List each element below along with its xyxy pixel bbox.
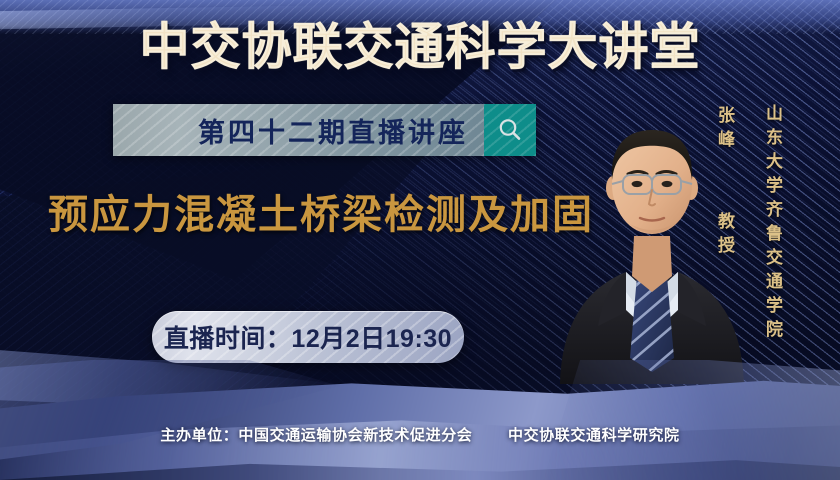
episode-label: 第四十二期直播讲座: [198, 111, 484, 150]
organizer-label: 主办单位：中国交通运输协会新技术促进分会: [160, 427, 472, 444]
page-title: 中交协联交通科学大讲堂: [0, 18, 840, 76]
lecture-topic: 预应力混凝土桥梁检测及加固: [48, 190, 594, 240]
ribbon-highlight-right: [540, 360, 840, 480]
footer-organizers: 主办单位：中国交通运输协会新技术促进分会 中交协联交通科学研究院: [0, 424, 840, 445]
promo-poster: 中交协联交通科学大讲堂 第四十二期直播讲座 预应力混凝土桥梁检测及加固 直播时间…: [0, 0, 840, 480]
episode-banner: 第四十二期直播讲座: [113, 104, 536, 156]
broadcast-time-text: 直播时间：12月2日19:30: [164, 319, 452, 355]
broadcast-time-badge: 直播时间：12月2日19:30: [152, 311, 464, 363]
speaker-institution: 山东大学齐鲁交通学院: [760, 104, 785, 344]
episode-banner-background: 第四十二期直播讲座: [113, 104, 484, 156]
footer-ribbon-band: [0, 360, 840, 480]
speaker-name: 张峰: [712, 106, 737, 154]
search-icon: [496, 116, 524, 144]
speaker-title: 教授: [712, 212, 737, 260]
co-organizer-label: 中交协联交通科学研究院: [508, 427, 680, 444]
search-icon-box[interactable]: [484, 104, 536, 156]
